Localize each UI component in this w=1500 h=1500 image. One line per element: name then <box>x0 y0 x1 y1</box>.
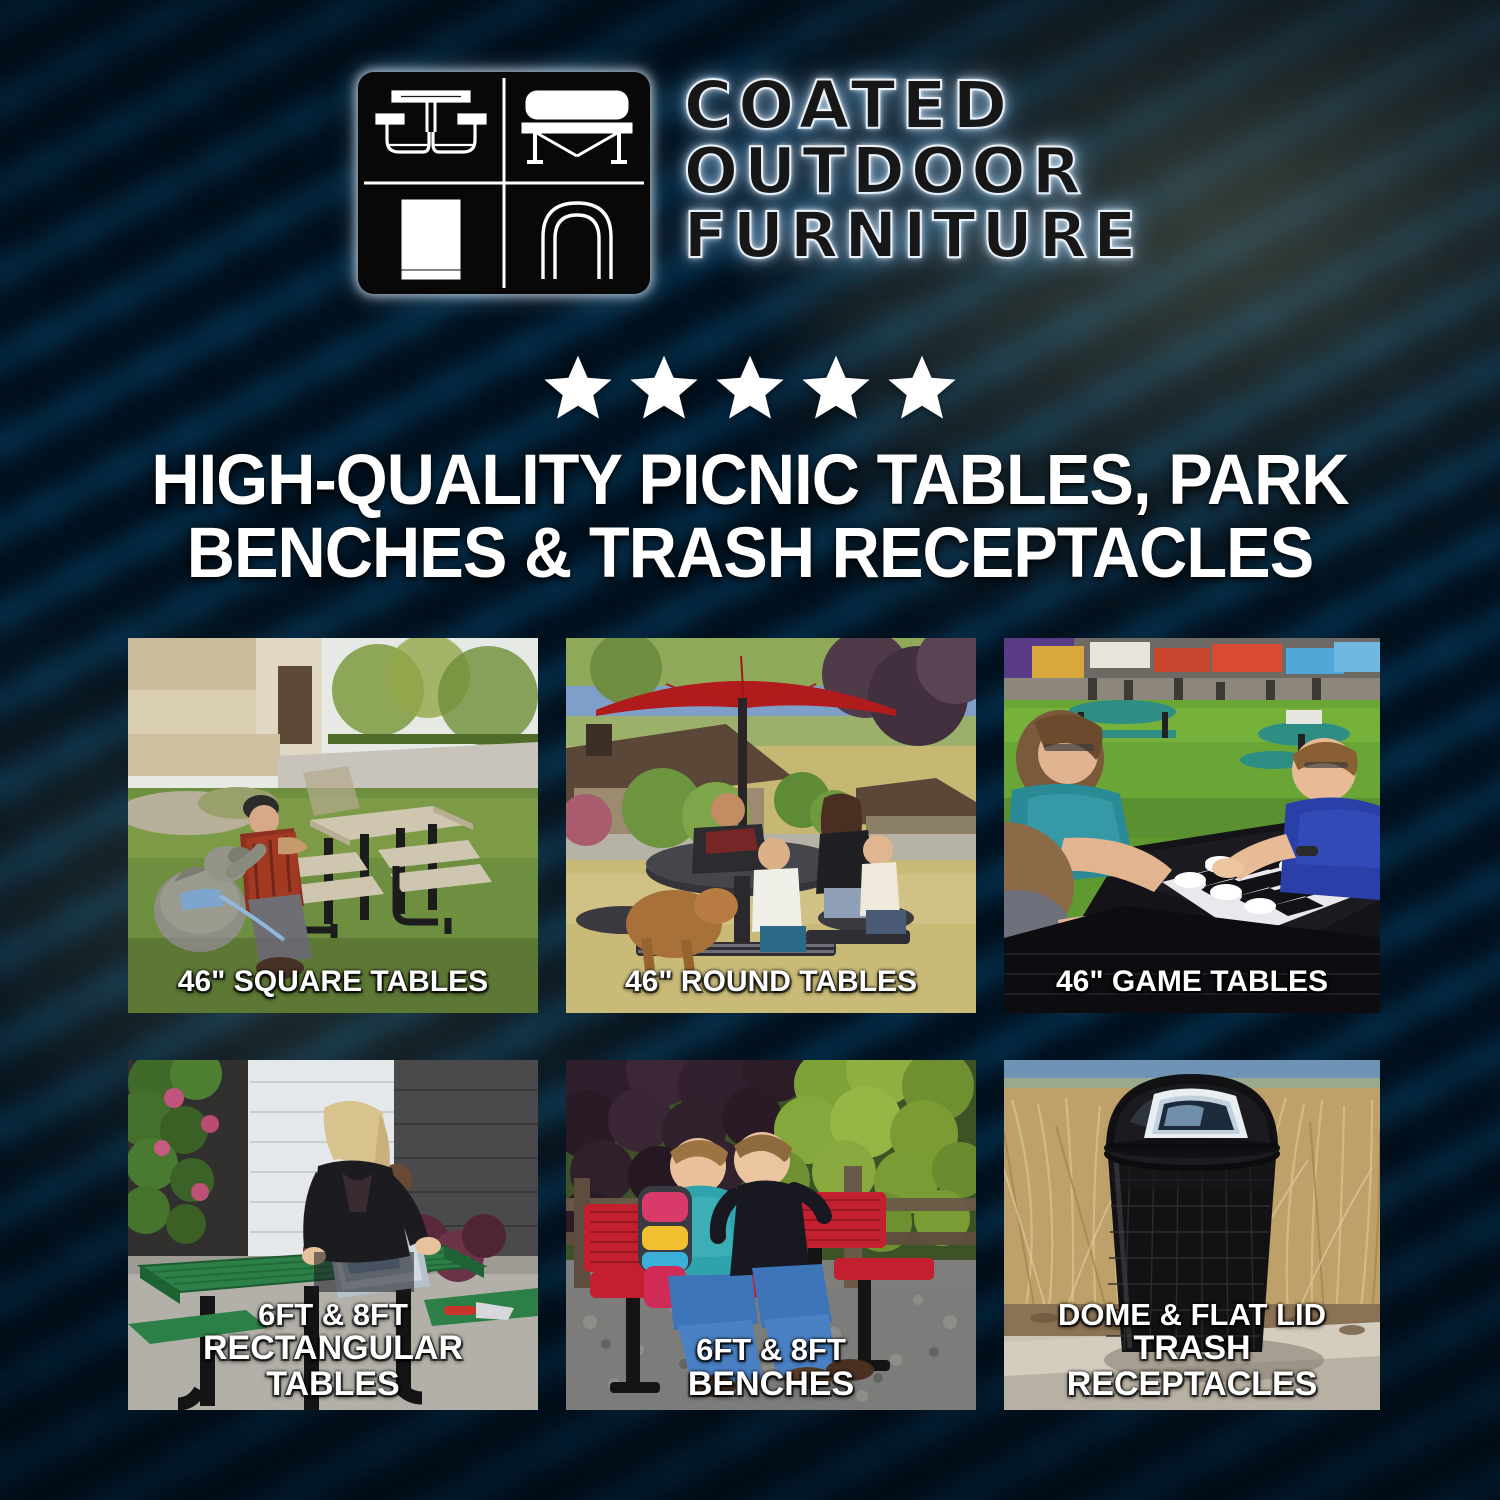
product-tile-rectangular-tables[interactable]: 6FT & 8FT RECTANGULAR TABLES <box>128 1060 538 1410</box>
product-tile-game-tables[interactable]: 46" GAME TABLES <box>1004 638 1380 1013</box>
caption-line: 46" SQUARE TABLES <box>134 966 532 997</box>
product-grid: 46" SQUARE TABLES <box>128 638 1374 1410</box>
product-tile-benches[interactable]: 6FT & 8FT BENCHES <box>566 1060 976 1410</box>
logo-word-outdoor: OUTDOOR <box>684 141 1143 204</box>
star-icon-3 <box>712 352 788 424</box>
star-icon-2 <box>626 352 702 424</box>
caption-line: 6FT & 8FT <box>572 1334 970 1366</box>
product-tile-square-tables[interactable]: 46" SQUARE TABLES <box>128 638 538 1013</box>
star-rating <box>0 352 1500 424</box>
promo-banner: COATED OUTDOOR FURNITURE HIGH-QUALITY PI… <box>0 0 1500 1500</box>
logo-word-coated: COATED <box>684 74 1143 139</box>
product-caption-rectangular-tables: 6FT & 8FT RECTANGULAR TABLES <box>128 1299 538 1402</box>
product-photo-game-tables <box>1004 638 1380 1013</box>
product-caption-benches: 6FT & 8FT BENCHES <box>566 1334 976 1402</box>
star-icon-1 <box>540 352 616 424</box>
product-caption-square-tables: 46" SQUARE TABLES <box>128 966 538 997</box>
product-photo-square-tables <box>128 638 538 1013</box>
caption-line: TRASH RECEPTACLES <box>1010 1331 1374 1402</box>
product-caption-game-tables: 46" GAME TABLES <box>1004 966 1380 997</box>
caption-line: DOME & FLAT LID <box>1010 1299 1374 1331</box>
product-caption-trash-receptacles: DOME & FLAT LID TRASH RECEPTACLES <box>1004 1299 1380 1402</box>
bike-rack-icon <box>504 183 650 294</box>
caption-line: RECTANGULAR TABLES <box>134 1331 532 1402</box>
product-caption-round-tables: 46" ROUND TABLES <box>566 966 976 997</box>
headline-line-1: HIGH-QUALITY PICNIC TABLES, PARK <box>45 444 1455 517</box>
product-photo-round-tables <box>566 638 976 1013</box>
product-tile-round-tables[interactable]: 46" ROUND TABLES <box>566 638 976 1013</box>
caption-line: BENCHES <box>572 1367 970 1402</box>
caption-line: 46" ROUND TABLES <box>572 966 970 997</box>
star-icon-4 <box>798 352 874 424</box>
product-tile-trash-receptacles[interactable]: DOME & FLAT LID TRASH RECEPTACLES <box>1004 1060 1380 1410</box>
caption-line: 46" GAME TABLES <box>1010 966 1374 997</box>
brand-logo: COATED OUTDOOR FURNITURE <box>0 72 1500 294</box>
logo-mark-grid <box>358 72 650 294</box>
page-headline: HIGH-QUALITY PICNIC TABLES, PARK BENCHES… <box>45 444 1455 590</box>
caption-line: 6FT & 8FT <box>134 1299 532 1331</box>
trash-receptacle-icon <box>358 183 504 294</box>
bench-icon <box>504 72 650 183</box>
picnic-table-icon <box>358 72 504 183</box>
logo-wordmark: COATED OUTDOOR FURNITURE <box>684 72 1143 267</box>
star-icon-5 <box>884 352 960 424</box>
headline-line-2: BENCHES & TRASH RECEPTACLES <box>45 517 1455 590</box>
logo-word-furniture: FURNITURE <box>684 205 1143 267</box>
